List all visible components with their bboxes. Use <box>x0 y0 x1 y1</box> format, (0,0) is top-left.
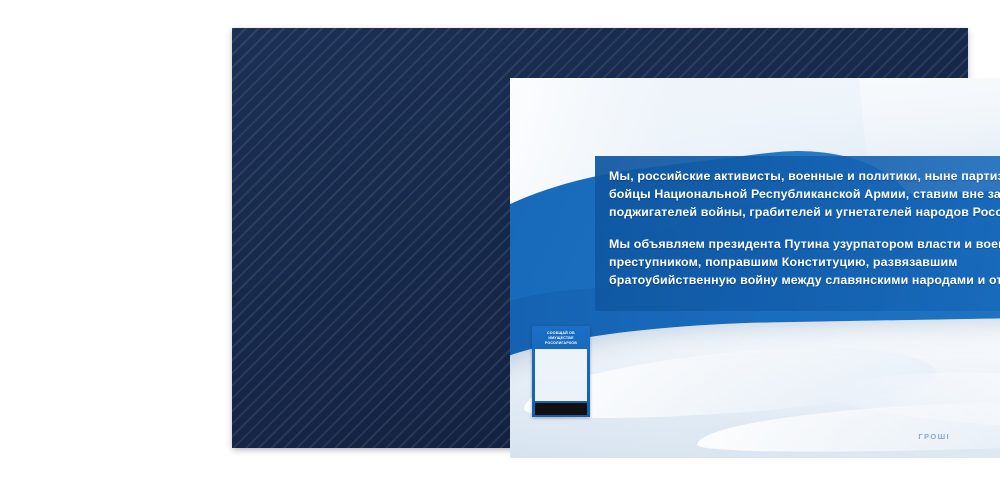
statement-paragraph-1: Мы, российские активисты, военные и поли… <box>609 167 1000 222</box>
screenshot-root: FREE M УТРО ФЕВРАЛЯ A Мы, российские акт… <box>0 0 1000 500</box>
statement-panel: Мы, российские активисты, военные и поли… <box>595 156 1000 311</box>
promo-left-footer-bar <box>535 403 587 415</box>
video-area: FREE M УТРО ФЕВРАЛЯ A Мы, российские акт… <box>510 78 1000 458</box>
promo-left-caption: СООБЩАЙ ОБ ИМУЩЕСТВЕ РОСОЛИГАРХОВ <box>535 329 587 349</box>
broadcast-frame: FREE M УТРО ФЕВРАЛЯ A Мы, российские акт… <box>232 28 968 448</box>
qr-code-icon[interactable] <box>535 349 587 401</box>
promo-card-left[interactable]: СООБЩАЙ ОБ ИМУЩЕСТВЕ РОСОЛИГАРХОВ <box>532 326 590 417</box>
statement-paragraph-2: Мы объявляем президента Путина узурпатор… <box>609 235 1000 290</box>
program-watermark: ГРОШІ <box>918 432 950 441</box>
